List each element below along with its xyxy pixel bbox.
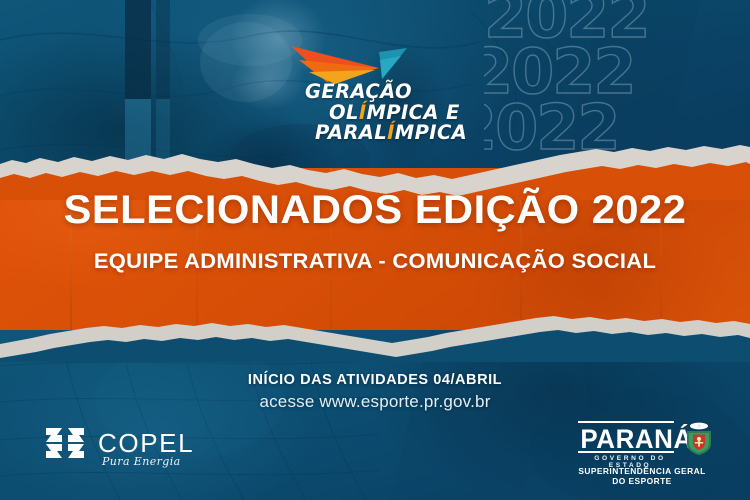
logo-line-3: PARALÍMPICA [283,123,483,144]
page-subtitle: EQUIPE ADMINISTRATIVA - COMUNICAÇÃO SOCI… [0,249,750,274]
banner-text-group: SELECIONADOS EDIÇÃO 2022 EQUIPE ADMINIST… [0,188,750,274]
poster-canvas: 2022 2022 2022 GERAÇÃO OLÍMPICA E PARALÍ… [0,0,750,500]
logo-line-3-b: MPICA [395,121,467,144]
parana-rule-top [578,421,674,423]
copel-logo-mark-icon [44,426,86,460]
logo-line-3-a: PARAL [315,121,387,144]
page-title: SELECIONADOS EDIÇÃO 2022 [0,188,750,233]
event-logo: GERAÇÃO OLÍMPICA E PARALÍMPICA [283,42,483,142]
logo-wordmark: GERAÇÃO OLÍMPICA E PARALÍMPICA [283,82,483,144]
logo-line-2: OLÍMPICA E [283,103,483,124]
department-line-2: DO ESPORTE [612,476,671,486]
parana-coat-of-arms-icon [682,420,716,456]
torn-paper-edge-bottom [0,300,750,362]
event-info-group: INÍCIO DAS ATIVIDADES 04/ABRIL acesse ww… [0,372,750,412]
parana-rule-bottom [578,451,674,453]
copel-tagline: Pura Energia [102,455,181,468]
copel-logo: COPEL Pura Energia [44,424,194,474]
start-date-text: INÍCIO DAS ATIVIDADES 04/ABRIL [0,372,750,388]
parana-government-logo: PARANÁ GOVERNO DO ESTADO SUPERINTENDÊNCI… [578,424,718,476]
logo-line-1: GERAÇÃO [283,82,483,103]
logo-line-3-accent: Í [387,121,395,144]
department-line-1: SUPERINTENDÊNCIA GERAL [578,466,705,476]
parana-department-text: SUPERINTENDÊNCIA GERAL DO ESPORTE [572,466,712,486]
website-text[interactable]: acesse www.esporte.pr.gov.br [0,392,750,412]
